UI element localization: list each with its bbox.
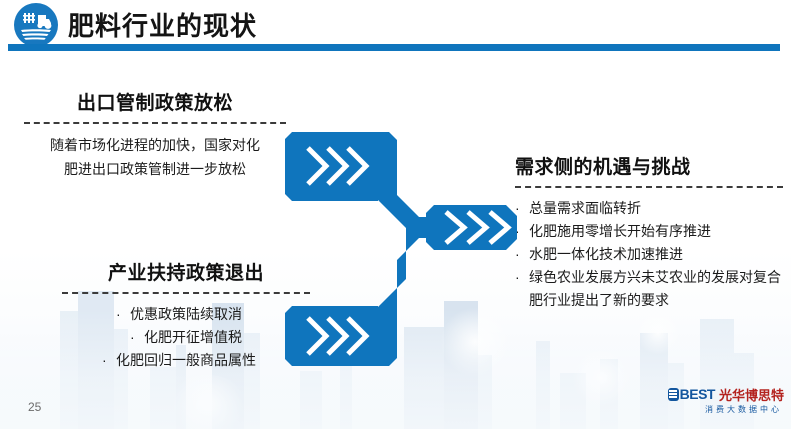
block-demand-heading: 需求侧的机遇与挑战 xyxy=(515,152,783,179)
bullet-marker: · xyxy=(116,303,130,326)
block-export-heading: 出口管制政策放松 xyxy=(24,88,286,115)
divider-dashed xyxy=(24,122,286,124)
list-item-label: 总量需求面临转折 xyxy=(529,197,783,220)
slide-canvas: 肥料行业的现状 出口管制政策放松 随着市场化进程的加快，国家对化 肥进出口政策管… xyxy=(0,0,791,429)
block-demand-side: 需求侧的机遇与挑战 · 总量需求面临转折 · 化肥施用零增长开始有序推进 · 水… xyxy=(515,152,783,312)
block-demand-bullets: · 总量需求面临转折 · 化肥施用零增长开始有序推进 · 水肥一体化技术加速推进… xyxy=(515,197,783,312)
list-item: · 化肥开征增值税 xyxy=(116,326,256,349)
list-item: · 水肥一体化技术加速推进 xyxy=(515,243,783,266)
bullet-marker: · xyxy=(102,349,116,372)
list-item-label: 水肥一体化技术加速推进 xyxy=(529,243,783,266)
block-subsidy-bullets: · 优惠政策陆续取消 · 化肥开征增值税 · 化肥回归一般商品属性 xyxy=(116,303,256,372)
block-subsidy-exit: 产业扶持政策退出 · 优惠政策陆续取消 · 化肥开征增值税 · 化肥回归一般商品… xyxy=(62,258,310,372)
list-item: · 化肥施用零增长开始有序推进 xyxy=(515,220,783,243)
list-item-label: 化肥开征增值税 xyxy=(144,326,256,349)
list-item: · 优惠政策陆续取消 xyxy=(116,303,256,326)
brand-name-text: 光华博思特 xyxy=(719,385,784,404)
list-item-label: 优惠政策陆续取消 xyxy=(130,303,256,326)
list-item-label: 化肥施用零增长开始有序推进 xyxy=(529,220,783,243)
merge-arrow-diagram xyxy=(278,125,523,373)
slide-header: 肥料行业的现状 xyxy=(0,0,791,52)
list-item: · 化肥回归一般商品属性 xyxy=(102,349,256,372)
block-export-line-1: 随着市场化进程的加快，国家对化 xyxy=(24,133,286,157)
list-item: · 总量需求面临转折 xyxy=(515,197,783,220)
page-title: 肥料行业的现状 xyxy=(68,6,257,43)
bullet-marker: · xyxy=(130,326,144,349)
brand-mark-text: BEST xyxy=(680,386,715,402)
divider-dashed xyxy=(62,292,310,294)
divider-dashed xyxy=(515,186,783,188)
block-subsidy-heading: 产业扶持政策退出 xyxy=(62,258,310,285)
list-item-label: 化肥回归一般商品属性 xyxy=(116,349,256,372)
block-export-line-2: 肥进出口政策管制进一步放松 xyxy=(24,157,286,181)
list-item: · 绿色农业发展方兴未艾农业的发展对复合肥行业提出了新的要求 xyxy=(515,266,783,312)
brand-logo: BEST 光华博思特 消费大数据中心 xyxy=(668,386,784,418)
list-item-label: 绿色农业发展方兴未艾农业的发展对复合肥行业提出了新的要求 xyxy=(529,266,783,312)
header-accent-rule xyxy=(8,44,780,51)
page-number: 25 xyxy=(28,400,41,414)
best-mark-icon xyxy=(668,388,679,401)
brand-subtitle: 消费大数据中心 xyxy=(668,404,784,415)
block-export-policy: 出口管制政策放松 随着市场化进程的加快，国家对化 肥进出口政策管制进一步放松 xyxy=(24,88,286,181)
